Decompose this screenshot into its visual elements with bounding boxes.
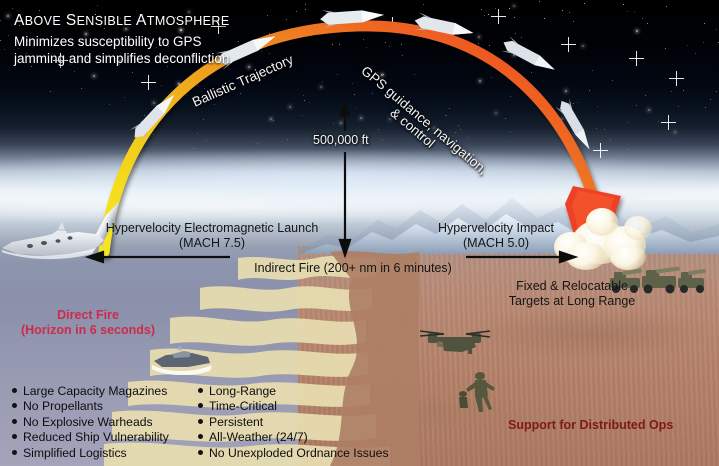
title-word-2-cap: S xyxy=(66,12,77,29)
title-word-3-cap: A xyxy=(136,12,147,29)
benefits-left-column: Large Capacity MagazinesNo PropellantsNo… xyxy=(12,384,169,461)
launch-annotation: Hypervelocity Electromagnetic Launch (MA… xyxy=(96,221,328,251)
page-title: ABOVE SENSIBLE ATMOSPHERE xyxy=(14,12,230,30)
targets-line-2: Targets at Long Range xyxy=(509,294,635,308)
bullet-dot-icon xyxy=(198,388,203,393)
targets-line-1: Fixed & Relocatable xyxy=(516,279,628,293)
bullet-dot-icon xyxy=(12,388,17,393)
benefits-right-column: Long-RangeTime-CriticalPersistentAll-Wea… xyxy=(198,384,389,461)
targets-annotation: Fixed & Relocatable Targets at Long Rang… xyxy=(496,279,648,309)
impact-line-1: Hypervelocity Impact xyxy=(438,221,554,235)
launch-line-2: (MACH 7.5) xyxy=(179,236,245,250)
benefit-label: Long-Range xyxy=(209,384,276,398)
benefit-item: No Explosive Warheads xyxy=(12,415,169,430)
impact-line-2: (MACH 5.0) xyxy=(463,236,529,250)
benefit-label: No Unexploded Ordnance Issues xyxy=(209,446,389,460)
benefit-label: Large Capacity Magazines xyxy=(23,384,167,398)
page-subtitle: Minimizes susceptibility to GPS jamming … xyxy=(14,33,234,67)
bullet-dot-icon xyxy=(12,450,17,455)
soldier-figures xyxy=(458,370,498,414)
benefit-label: No Propellants xyxy=(23,399,103,413)
benefit-item: No Unexploded Ordnance Issues xyxy=(198,446,389,461)
direct-fire-line-1: Direct Fire xyxy=(57,308,119,322)
title-word-1-rest: BOVE xyxy=(25,14,61,28)
benefit-label: Simplified Logistics xyxy=(23,446,127,460)
indirect-fire-label: Indirect Fire (200+ nm in 6 minutes) xyxy=(240,261,466,276)
benefit-item: Large Capacity Magazines xyxy=(12,384,169,399)
bullet-dot-icon xyxy=(12,419,17,424)
bullet-dot-icon xyxy=(198,403,203,408)
impact-annotation: Hypervelocity Impact (MACH 5.0) xyxy=(420,221,572,251)
direct-fire-line-2: (Horizon in 6 seconds) xyxy=(21,323,155,337)
benefit-item: Long-Range xyxy=(198,384,389,399)
benefit-label: All-Weather (24/7) xyxy=(209,430,308,444)
altitude-label: 500,000 ft xyxy=(313,133,369,147)
bullet-dot-icon xyxy=(198,450,203,455)
infographic-canvas: ABOVE SENSIBLE ATMOSPHERE Minimizes susc… xyxy=(0,0,719,466)
benefit-item: Reduced Ship Vulnerability xyxy=(12,430,169,445)
title-word-1-cap: A xyxy=(14,12,25,29)
title-word-2-rest: ENSIBLE xyxy=(77,14,133,28)
bullet-dot-icon xyxy=(12,434,17,439)
distributed-ops-label: Support for Distributed Ops xyxy=(508,418,673,432)
benefit-label: Time-Critical xyxy=(209,399,277,413)
benefit-label: Reduced Ship Vulnerability xyxy=(23,430,169,444)
direct-fire-annotation: Direct Fire (Horizon in 6 seconds) xyxy=(4,308,172,338)
benefit-item: Simplified Logistics xyxy=(12,446,169,461)
bullet-dot-icon xyxy=(198,419,203,424)
bullet-dot-icon xyxy=(12,403,17,408)
launch-line-1: Hypervelocity Electromagnetic Launch xyxy=(106,221,319,235)
benefit-label: No Explosive Warheads xyxy=(23,415,153,429)
benefit-item: No Propellants xyxy=(12,399,169,414)
benefit-item: All-Weather (24/7) xyxy=(198,430,389,445)
patrol-boat xyxy=(152,345,214,375)
destroyer-ship xyxy=(0,222,106,262)
tiltrotor-aircraft xyxy=(418,325,492,367)
benefit-item: Time-Critical xyxy=(198,399,389,414)
title-word-3-rest: TMOSPHERE xyxy=(147,14,230,28)
bullet-dot-icon xyxy=(198,434,203,439)
benefit-label: Persistent xyxy=(209,415,263,429)
benefit-item: Persistent xyxy=(198,415,389,430)
